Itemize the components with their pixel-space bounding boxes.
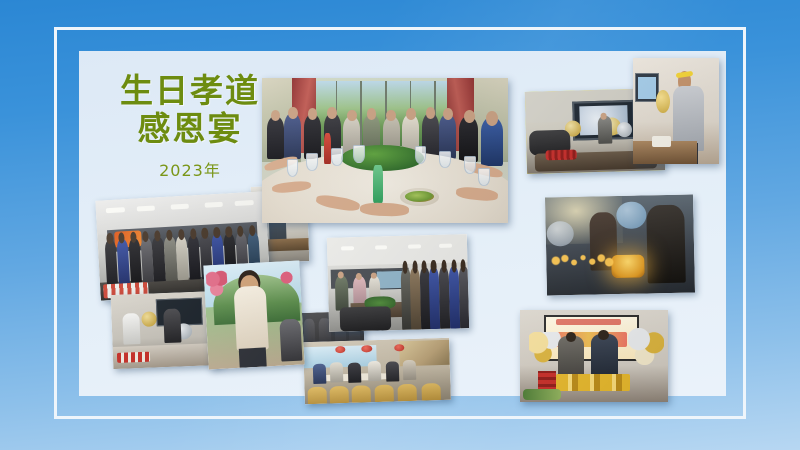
photo-candle-lights-cake-image (545, 194, 695, 295)
photo-happy-birthday-stage-image (520, 310, 668, 402)
photo-happy-birthday-stage[interactable] (520, 310, 668, 402)
photo-woman-speaking[interactable] (203, 261, 304, 370)
photo-banquet-toast[interactable] (262, 78, 508, 223)
photo-dining-hall-image (303, 338, 451, 405)
photo-man-cutting-cake[interactable] (633, 58, 719, 164)
photo-candle-lights-cake[interactable] (545, 194, 695, 295)
photo-woman-speaking-image (203, 261, 304, 370)
title-line-1: 生日孝道 (95, 72, 285, 110)
title-year: 2023年 (95, 157, 285, 181)
slide-canvas: 生日孝道 感恩宴 2023年 (0, 0, 800, 450)
title-line-2: 感恩宴 (95, 110, 285, 148)
photo-standing-meeting-image (327, 234, 469, 332)
photo-standing-meeting[interactable] (327, 234, 469, 332)
photo-man-cutting-cake-image (633, 58, 719, 164)
photo-dining-hall[interactable] (303, 338, 451, 405)
photo-banquet-toast-image (262, 78, 508, 223)
title-block: 生日孝道 感恩宴 2023年 (95, 72, 285, 181)
